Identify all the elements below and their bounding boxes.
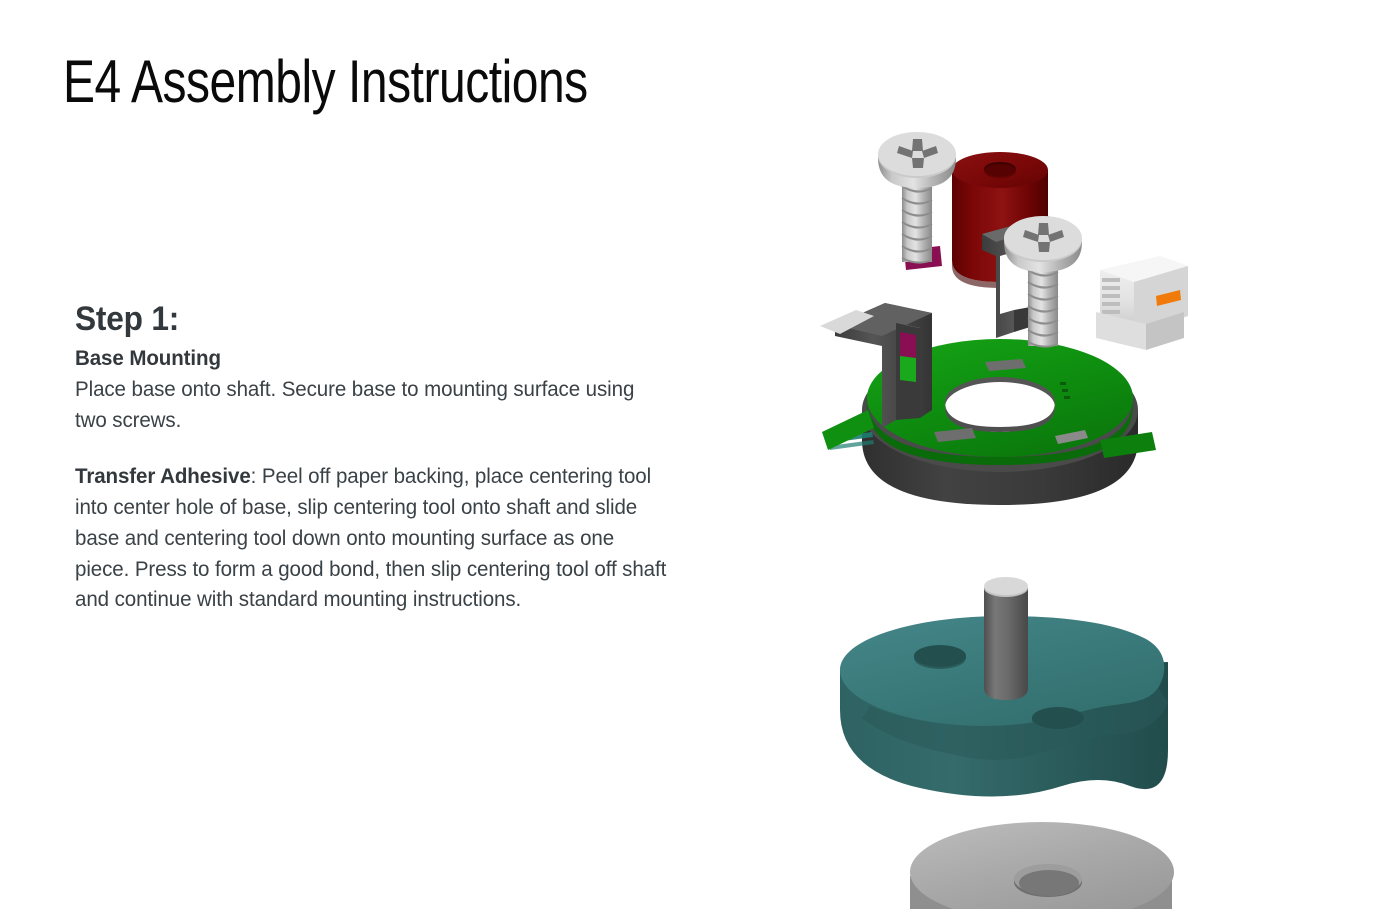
exploded-assembly-diagram: [800, 110, 1360, 909]
slide-canvas: E4 Assembly Instructions Step 1: Base Mo…: [0, 0, 1386, 909]
transfer-adhesive-lead: Transfer Adhesive: [75, 464, 251, 488]
page-title: E4 Assembly Instructions: [63, 48, 588, 115]
latch-left-window-magenta: [900, 332, 916, 358]
part-drive-shaft: [984, 577, 1028, 700]
step-heading: Step 1:: [75, 300, 652, 339]
washer-center-bore: [1019, 870, 1079, 896]
puck-mount-hole-left-bore: [914, 645, 966, 667]
subheading-base-mounting: Base Mounting: [75, 343, 667, 374]
screw-a-head-dome: [878, 132, 956, 176]
shaft-top-highlight: [984, 577, 1028, 595]
paragraph-spacer: [75, 435, 695, 461]
part-connector: [1096, 256, 1188, 350]
screw-b-head-dome: [1004, 216, 1082, 260]
part-teal-puck: [840, 577, 1168, 797]
instruction-text-column: Step 1: Base Mounting Place base onto sh…: [75, 300, 695, 615]
latch-left-window-green: [900, 356, 916, 382]
paragraph-transfer-adhesive: Transfer Adhesive: Peel off paper backin…: [75, 461, 667, 615]
part-gray-washer: [910, 822, 1174, 909]
paragraph-base-mounting: Place base onto shaft. Secure base to mo…: [75, 374, 667, 435]
red-cap-hole-inner-wall: [984, 164, 1016, 178]
puck-mount-hole-right-bore: [1032, 707, 1084, 729]
part-screw-a: [878, 132, 956, 263]
shaft-body: [984, 588, 1028, 700]
